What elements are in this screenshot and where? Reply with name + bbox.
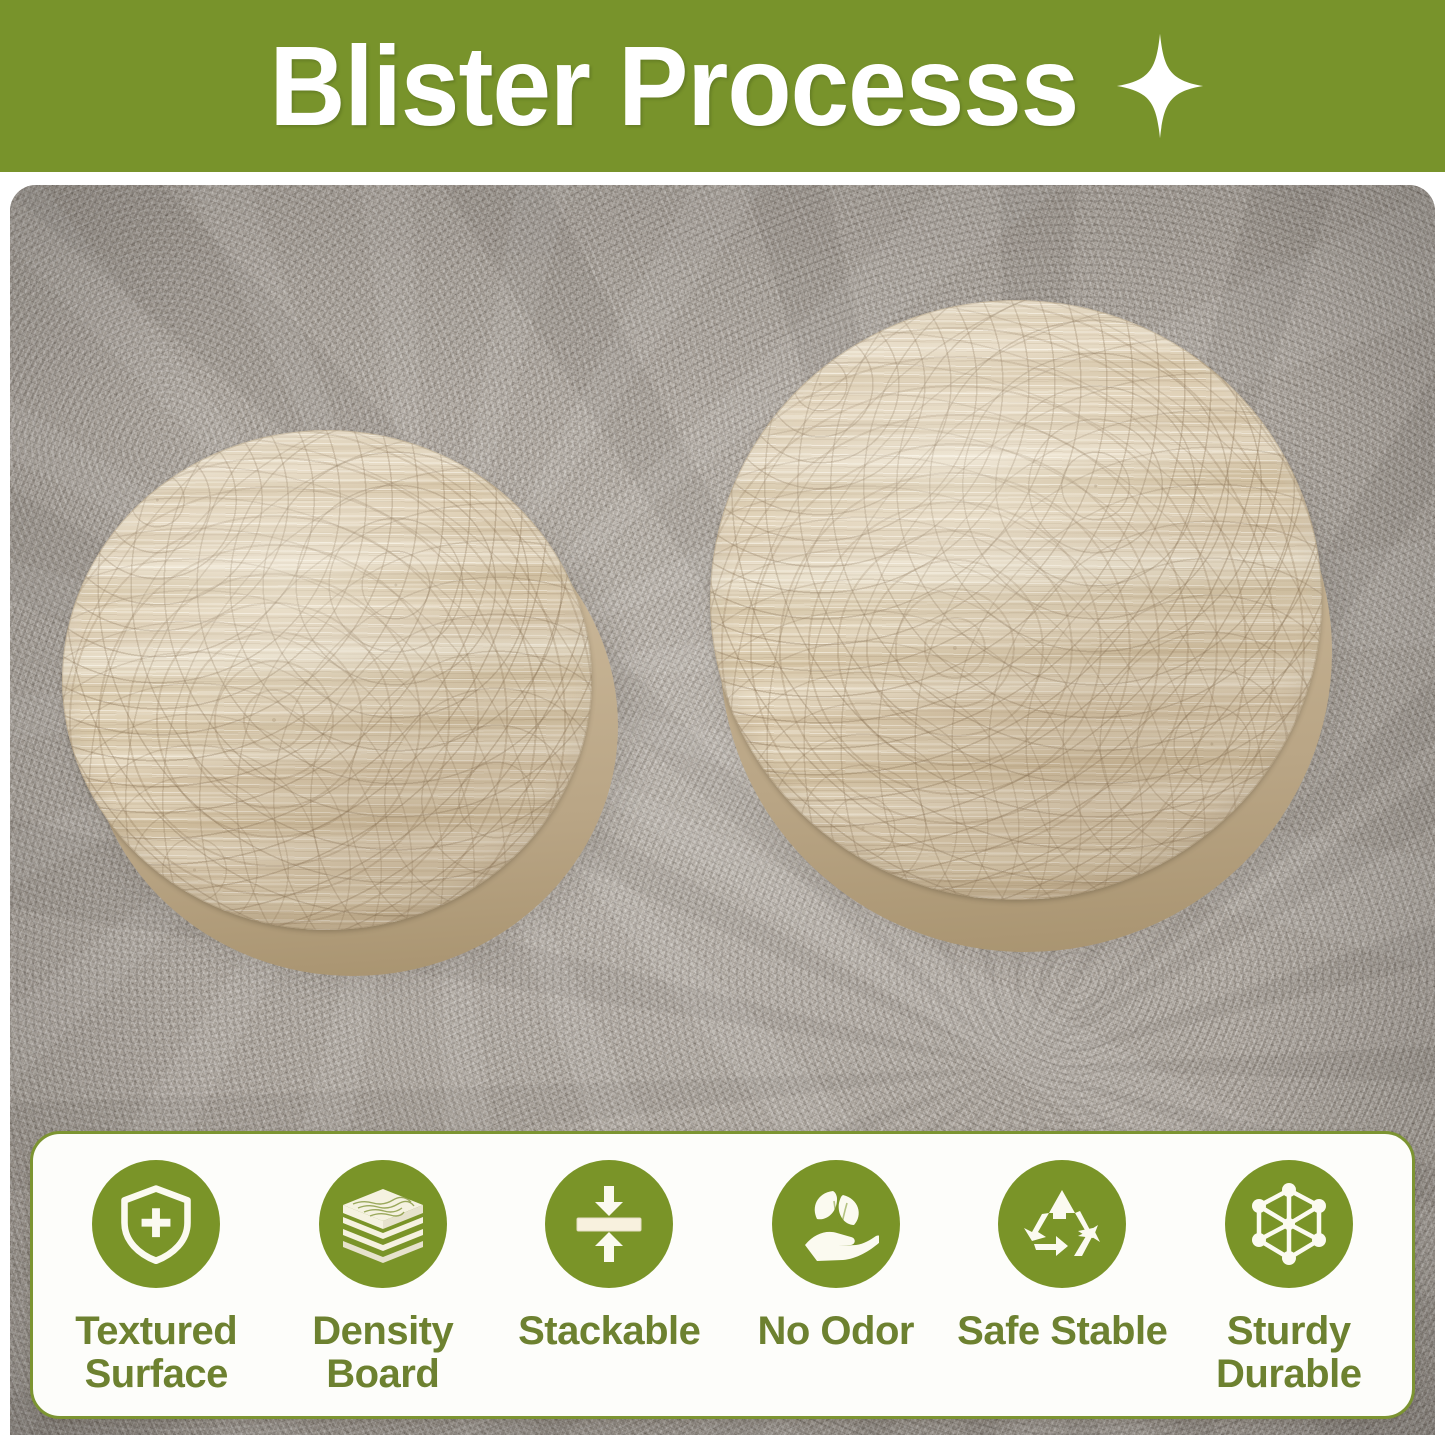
cube-wireframe-icon [1225, 1160, 1353, 1288]
feature-badge-card: Textured Surface Density Board [30, 1131, 1415, 1419]
feature-item-no-odor[interactable]: No Odor [723, 1134, 950, 1353]
travertine-rim [62, 430, 592, 930]
hand-leaf-eco-icon [772, 1160, 900, 1288]
feature-label: Stackable [518, 1310, 700, 1353]
recycle-icon [998, 1160, 1126, 1288]
large-round-table [710, 300, 1350, 1000]
small-round-table [62, 430, 642, 990]
large-table-top [710, 300, 1322, 900]
feature-item-density-board[interactable]: Density Board [270, 1134, 497, 1396]
feature-item-safe-stable[interactable]: Safe Stable [949, 1134, 1176, 1353]
feature-label: Safe Stable [957, 1310, 1167, 1353]
feature-label: Sturdy Durable [1216, 1310, 1361, 1396]
page-title: Blister Processs [269, 30, 1078, 143]
feature-item-stackable[interactable]: Stackable [496, 1134, 723, 1353]
feature-item-sturdy-durable[interactable]: Sturdy Durable [1176, 1134, 1403, 1396]
feature-label: No Odor [758, 1310, 914, 1353]
sparkle-4-point-icon [1114, 31, 1206, 141]
small-table-top [62, 430, 592, 930]
shield-plus-icon [92, 1160, 220, 1288]
travertine-rim [710, 300, 1322, 900]
feature-label: Density Board [312, 1310, 453, 1396]
layered-board-icon [319, 1160, 447, 1288]
feature-item-textured-surface[interactable]: Textured Surface [43, 1134, 270, 1396]
feature-label: Textured Surface [75, 1310, 237, 1396]
compress-arrows-icon [545, 1160, 673, 1288]
header-banner: Blister Processs [0, 0, 1445, 172]
